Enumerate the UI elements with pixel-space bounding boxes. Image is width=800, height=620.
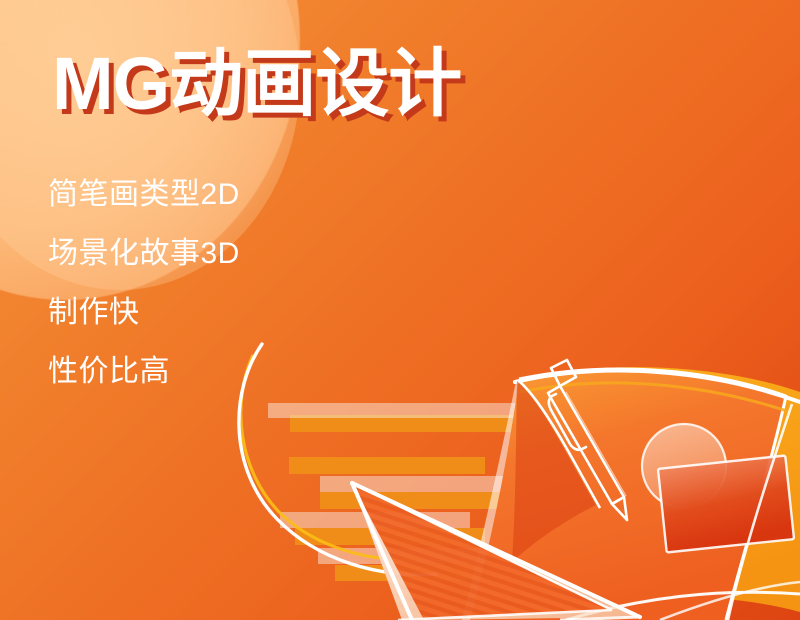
rectangle-shape [658,456,794,553]
feature-list: 简笔画类型2D 场景化故事3D 制作快 性价比高 [48,180,388,416]
feature-item-3: 制作快 [48,298,388,328]
feature-item-1: 简笔画类型2D [48,180,388,210]
feature-item-4: 性价比高 [48,357,388,387]
mg-animation-banner: MG动画设计 简笔画类型2D 场景化故事3D 制作快 性价比高 [0,0,800,620]
page-title: MG动画设计 [52,44,461,124]
feature-item-2: 场景化故事3D [48,239,388,269]
